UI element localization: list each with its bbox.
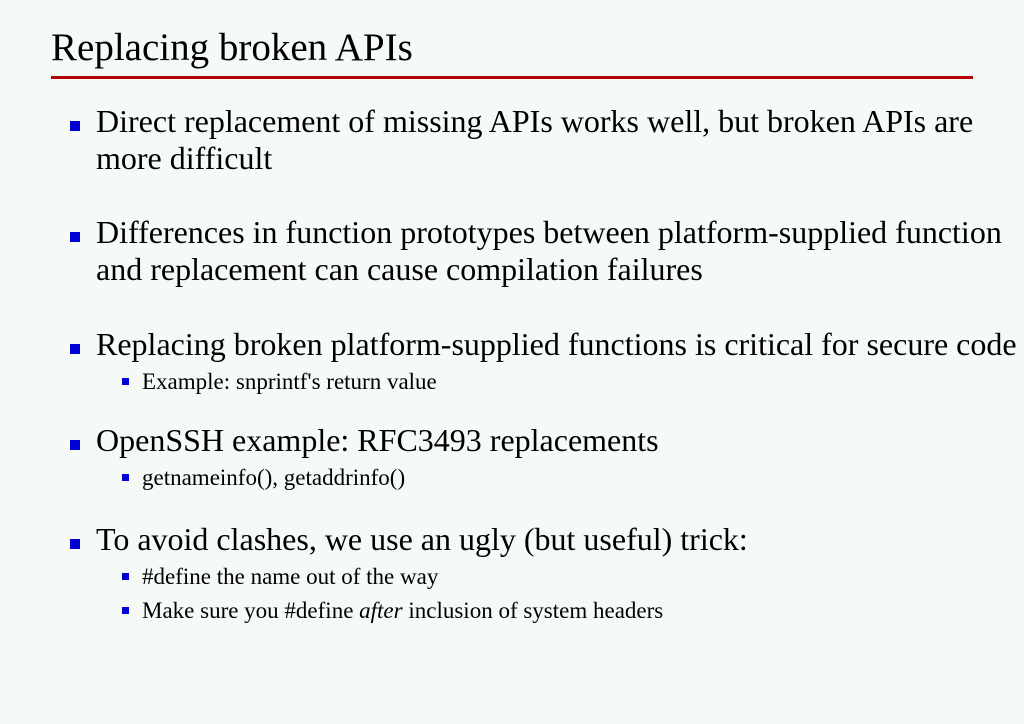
bullet-text: Replacing broken platform-supplied funct… (96, 326, 1017, 362)
list-item: Replacing broken platform-supplied funct… (0, 326, 1024, 397)
list-item: OpenSSH example: RFC3493 replacements ge… (0, 422, 1024, 493)
slide: Replacing broken APIs Direct replacement… (0, 0, 1024, 724)
list-item: Make sure you #define after inclusion of… (96, 595, 1024, 626)
sub-bullet-text-pre: Make sure you #define (142, 598, 359, 623)
list-item: To avoid clashes, we use an ugly (but us… (0, 521, 1024, 626)
sub-bullet-text: getnameinfo(), getaddrinfo() (142, 465, 405, 490)
page-title: Replacing broken APIs (51, 26, 973, 70)
sub-bullet-square-icon (122, 607, 129, 614)
bullet-square-icon (70, 344, 80, 354)
title-underline-rule (51, 76, 973, 79)
bullet-text: Direct replacement of missing APIs works… (96, 103, 973, 176)
sub-bullet-text-post: inclusion of system headers (403, 598, 664, 623)
sub-bullet-square-icon (122, 378, 129, 385)
bullet-text: Differences in function prototypes betwe… (96, 214, 1002, 287)
slide-body: Direct replacement of missing APIs works… (0, 103, 1024, 626)
sub-bullet-text: Example: snprintf's return value (142, 369, 437, 394)
sub-bullet-list: getnameinfo(), getaddrinfo() (96, 462, 1024, 493)
list-item: Differences in function prototypes betwe… (0, 214, 1024, 288)
sub-bullet-text: #define the name out of the way (142, 564, 438, 589)
sub-bullet-text-emphasis: after (359, 598, 402, 623)
list-item: getnameinfo(), getaddrinfo() (96, 462, 1024, 493)
list-item: Example: snprintf's return value (96, 366, 1024, 397)
bullet-text: To avoid clashes, we use an ugly (but us… (96, 521, 748, 557)
bullet-square-icon (70, 440, 80, 450)
list-item: Direct replacement of missing APIs works… (0, 103, 1024, 177)
sub-bullet-list: #define the name out of the way Make sur… (96, 561, 1024, 626)
bullet-square-icon (70, 539, 80, 549)
sub-bullet-square-icon (122, 474, 129, 481)
bullet-text: OpenSSH example: RFC3493 replacements (96, 422, 659, 458)
slide-title-block: Replacing broken APIs (51, 26, 973, 79)
bullet-square-icon (70, 232, 80, 242)
sub-bullet-text-rich: Make sure you #define after inclusion of… (142, 598, 663, 623)
bullet-square-icon (70, 121, 80, 131)
sub-bullet-list: Example: snprintf's return value (96, 366, 1024, 397)
sub-bullet-square-icon (122, 573, 129, 580)
list-item: #define the name out of the way (96, 561, 1024, 592)
bullet-list: Direct replacement of missing APIs works… (0, 103, 1024, 626)
